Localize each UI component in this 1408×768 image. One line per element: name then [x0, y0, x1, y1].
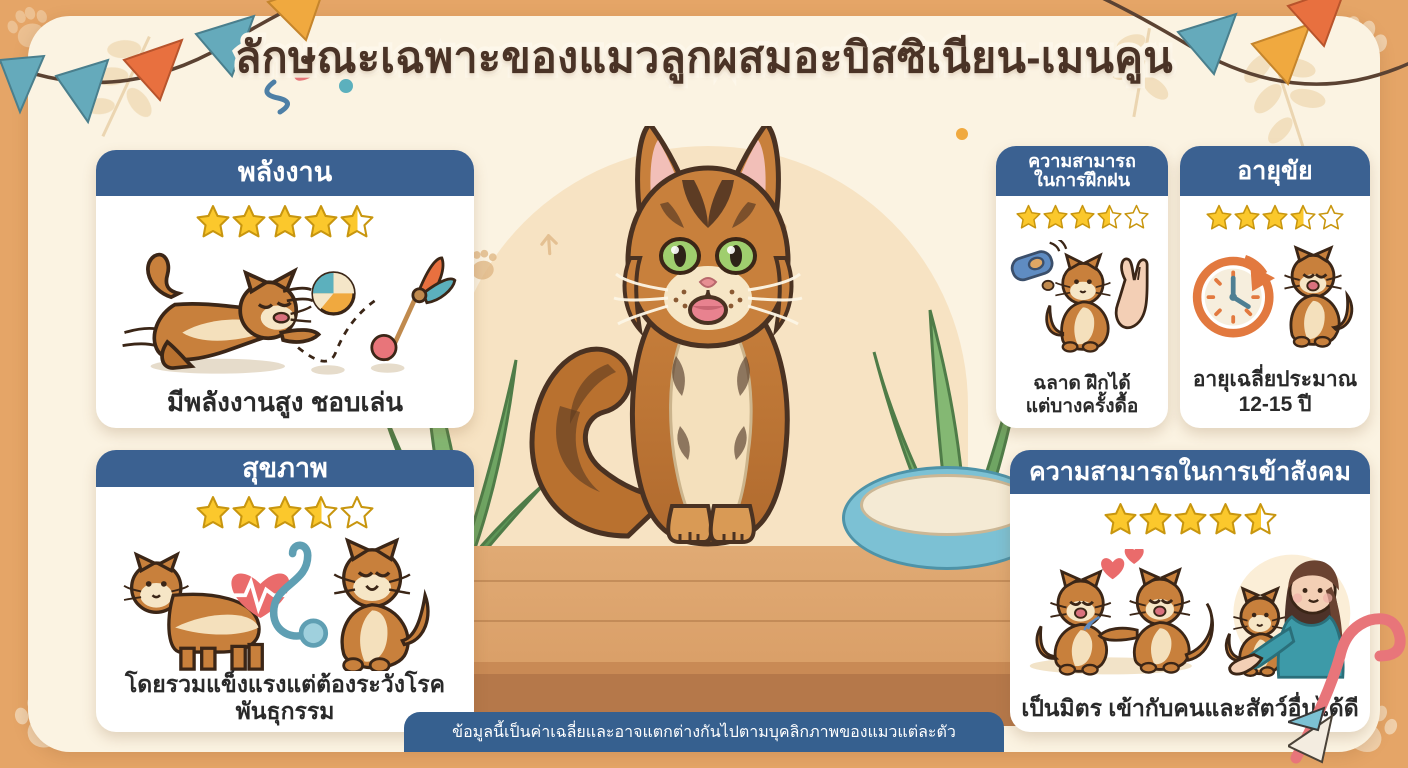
- star-icon: [232, 495, 266, 529]
- star-icon: [1262, 204, 1288, 230]
- star-icon: [1244, 502, 1277, 535]
- card-lifespan-rating: [1206, 204, 1344, 230]
- card-lifespan[interactable]: อายุขัย: [1180, 146, 1370, 428]
- star-icon: [268, 204, 302, 238]
- card-sociability-rating: [1104, 502, 1277, 535]
- star-icon: [1070, 204, 1095, 229]
- star-icon: [304, 495, 338, 529]
- card-trainability-rating: [1016, 204, 1149, 229]
- card-energy-title: พลังงาน: [238, 158, 332, 187]
- star-icon: [1104, 502, 1137, 535]
- card-trainability-illustration: [1004, 229, 1160, 373]
- star-icon: [1124, 204, 1149, 229]
- card-trainability-title-line2: ในการฝึกฝน: [1028, 171, 1136, 190]
- title-area: ลักษณะเฉพาะของแมวลูกผสมอะบิสซิเนียน-เมนค…: [0, 34, 1408, 83]
- card-lifespan-header: อายุขัย: [1180, 146, 1370, 196]
- card-trainability-caption: ฉลาด ฝึกได้ แต่บางครั้งดื้อ: [1026, 373, 1139, 418]
- star-icon: [1174, 502, 1207, 535]
- card-sociability-title: ความสามารถในการเข้าสังคม: [1029, 459, 1351, 486]
- star-icon: [196, 204, 230, 238]
- star-icon: [232, 204, 266, 238]
- card-health-header: สุขภาพ: [96, 450, 474, 487]
- ribbon-streamer-decoration: [1288, 598, 1408, 768]
- card-trainability-header: ความสามารถ ในการฝึกฝน: [996, 146, 1168, 196]
- star-icon: [304, 204, 338, 238]
- card-energy-illustration: [104, 238, 466, 387]
- card-energy-caption: มีพลังงานสูง ชอบเล่น: [167, 387, 403, 418]
- card-health-rating: [196, 495, 374, 529]
- star-icon: [1290, 204, 1316, 230]
- star-icon: [1318, 204, 1344, 230]
- card-energy[interactable]: พลังงาน: [96, 150, 474, 428]
- star-icon: [1206, 204, 1232, 230]
- footer-note: ข้อมูลนี้เป็นค่าเฉลี่ยและอาจแตกต่างกันไป…: [404, 712, 1004, 752]
- star-icon: [1209, 502, 1242, 535]
- hero-cat-maine-coon-abyssinian: [508, 126, 908, 576]
- card-trainability[interactable]: ความสามารถ ในการฝึกฝน: [996, 146, 1168, 428]
- star-icon: [1234, 204, 1260, 230]
- page-title: ลักษณะเฉพาะของแมวลูกผสมอะบิสซิเนียน-เมนค…: [235, 34, 1173, 83]
- star-icon: [1016, 204, 1041, 229]
- infographic-canvas: พลังงาน: [0, 0, 1408, 768]
- card-lifespan-caption: อายุเฉลี่ยประมาณ 12-15 ปี: [1193, 368, 1357, 418]
- card-health[interactable]: สุขภาพ: [96, 450, 474, 732]
- card-health-title: สุขภาพ: [242, 454, 328, 483]
- star-icon: [1043, 204, 1068, 229]
- star-icon: [1139, 502, 1172, 535]
- star-icon: [1097, 204, 1122, 229]
- card-lifespan-title: อายุขัย: [1237, 158, 1312, 185]
- card-energy-rating: [196, 204, 374, 238]
- card-lifespan-illustration: [1188, 230, 1362, 368]
- star-icon: [340, 495, 374, 529]
- footer-note-text: ข้อมูลนี้เป็นค่าเฉลี่ยและอาจแตกต่างกันไป…: [452, 720, 956, 745]
- card-trainability-title-line1: ความสามารถ: [1028, 152, 1136, 171]
- star-icon: [196, 495, 230, 529]
- card-health-illustration: [104, 529, 466, 671]
- card-sociability-header: ความสามารถในการเข้าสังคม: [1010, 450, 1370, 494]
- star-icon: [340, 204, 374, 238]
- card-energy-header: พลังงาน: [96, 150, 474, 196]
- star-icon: [268, 495, 302, 529]
